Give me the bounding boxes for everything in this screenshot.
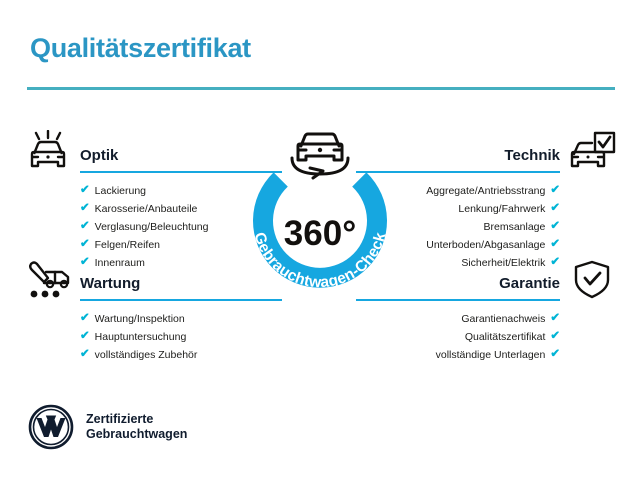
footer-text: Zertifizierte Gebrauchtwagen xyxy=(86,412,187,442)
car-rotate-icon xyxy=(292,134,348,178)
car-checkbox-icon xyxy=(568,130,616,174)
footer-line-1: Zertifizierte xyxy=(86,412,187,427)
shield-check-icon xyxy=(568,258,616,302)
list-item-label: Aggregate/Antriebsstrang xyxy=(426,182,545,200)
section-technik-title: Technik xyxy=(504,147,560,164)
list-item-label: vollständiges Zubehör xyxy=(95,346,198,364)
certificate-page: Qualitätszertifikat xyxy=(0,0,640,480)
wrench-car-icon xyxy=(24,258,72,302)
car-shine-icon xyxy=(24,130,72,174)
check-icon: ✔ xyxy=(550,239,560,251)
check-icon: ✔ xyxy=(80,221,90,233)
wartung-checklist: ✔Wartung/Inspektion ✔Hauptuntersuchung ✔… xyxy=(22,310,282,364)
badge-center-label: 360° xyxy=(284,214,356,253)
list-item: ✔Hauptuntersuchung xyxy=(22,328,282,346)
section-wartung-title: Wartung xyxy=(80,275,140,292)
list-item-label: Unterboden/Abgasanlage xyxy=(426,236,545,254)
check-icon: ✔ xyxy=(550,203,560,215)
check-icon: ✔ xyxy=(550,185,560,197)
list-item-label: vollständige Unterlagen xyxy=(436,346,546,364)
garantie-checklist: ✔Garantienachweis ✔Qualitätszertifikat ✔… xyxy=(356,310,618,364)
list-item-label: Garantienachweis xyxy=(461,310,545,328)
list-item-label: Hauptuntersuchung xyxy=(95,328,187,346)
list-item-label: Karosserie/Anbauteile xyxy=(95,200,198,218)
section-optik-title: Optik xyxy=(80,147,118,164)
title-divider xyxy=(27,87,615,90)
list-item-label: Verglasung/Beleuchtung xyxy=(95,218,209,236)
check-icon: ✔ xyxy=(550,331,560,343)
check-icon: ✔ xyxy=(80,349,90,361)
list-item-label: Bremsanlage xyxy=(483,218,545,236)
list-item-label: Lackierung xyxy=(95,182,146,200)
list-item: ✔Garantienachweis xyxy=(356,310,618,328)
section-garantie-title: Garantie xyxy=(499,275,560,292)
list-item: ✔vollständige Unterlagen xyxy=(356,346,618,364)
footer-line-2: Gebrauchtwagen xyxy=(86,427,187,442)
check-icon: ✔ xyxy=(550,349,560,361)
check-icon: ✔ xyxy=(550,313,560,325)
check-icon: ✔ xyxy=(80,185,90,197)
list-item: ✔Qualitätszertifikat xyxy=(356,328,618,346)
list-item-label: Qualitätszertifikat xyxy=(465,328,546,346)
check-icon: ✔ xyxy=(80,313,90,325)
vw-logo-icon xyxy=(28,404,74,450)
check-icon: ✔ xyxy=(550,221,560,233)
list-item-label: Felgen/Reifen xyxy=(95,236,160,254)
list-item-label: Lenkung/Fahrwerk xyxy=(458,200,545,218)
footer-brand: Zertifizierte Gebrauchtwagen xyxy=(28,404,187,450)
check-icon: ✔ xyxy=(80,331,90,343)
list-item-label: Wartung/Inspektion xyxy=(95,310,185,328)
page-title: Qualitätszertifikat xyxy=(30,33,251,64)
list-item: ✔vollständiges Zubehör xyxy=(22,346,282,364)
check-icon: ✔ xyxy=(80,239,90,251)
list-item: ✔Wartung/Inspektion xyxy=(22,310,282,328)
check-icon: ✔ xyxy=(80,203,90,215)
360-check-badge: 360° Gebrauchtwagen-Check xyxy=(224,112,416,308)
